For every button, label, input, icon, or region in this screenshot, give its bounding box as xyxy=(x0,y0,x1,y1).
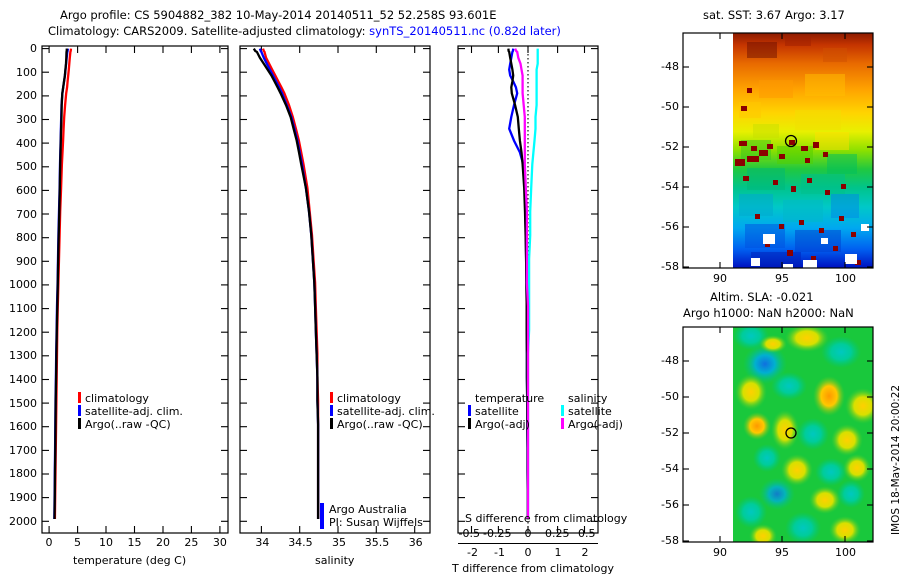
t-satellite-swatch xyxy=(468,405,471,416)
sla-map-svg xyxy=(655,322,900,557)
difference-legend-salinity-col: salinity satellite Argo(-adj) xyxy=(561,392,623,431)
s-argo-swatch xyxy=(561,418,564,429)
salinity-legend: climatology satellite-adj. clim. Argo(..… xyxy=(330,392,435,431)
legend-item: satellite-adj. clim. xyxy=(78,405,183,418)
legend-header-temperature: temperature xyxy=(475,392,544,405)
climatology-swatch xyxy=(78,392,81,403)
legend-item: climatology xyxy=(330,392,435,405)
sla-map-title-line1: Altim. SLA: -0.021 xyxy=(710,290,814,304)
legend-item: climatology xyxy=(78,392,183,405)
sst-map-panel xyxy=(655,28,900,283)
salinity-plot-svg xyxy=(235,40,450,545)
legend-item: Argo(-adj) xyxy=(468,418,544,431)
t-difference-axis-label: T difference from climatology xyxy=(452,562,614,575)
salinity-axis-label: salinity xyxy=(315,554,354,567)
legend-item: satellite xyxy=(468,405,544,418)
sst-map-ylabels: -48 -50 -52 -54 -56 -58 xyxy=(655,28,681,283)
legend-item: satellite-adj. clim. xyxy=(330,405,435,418)
salinity-profile-panel xyxy=(235,40,450,545)
page-title-line2: Climatology: CARS2009. Satellite-adjuste… xyxy=(48,24,561,38)
temperature-axis-label: temperature (deg C) xyxy=(73,554,186,567)
climatology-swatch xyxy=(330,392,333,403)
satellite-climatology-file: synTS_20140511.nc (0.82d later) xyxy=(369,24,561,38)
sst-map-svg xyxy=(655,28,900,283)
legend-item: Argo(..raw -QC) xyxy=(330,418,435,431)
legend-header-salinity: salinity xyxy=(568,392,623,405)
sst-map-title: sat. SST: 3.67 Argo: 3.17 xyxy=(703,8,845,22)
satellite-adj-swatch xyxy=(78,405,81,416)
difference-legend-temperature-col: temperature satellite Argo(-adj) xyxy=(468,392,544,431)
s-satellite-swatch xyxy=(561,405,564,416)
sst-raster xyxy=(683,33,873,270)
satellite-adj-swatch xyxy=(330,405,333,416)
page-title-line1: Argo profile: CS 5904882_382 10-May-2014… xyxy=(60,8,497,22)
sla-raster xyxy=(683,322,881,548)
credit-line2: PI: Susan Wijffels xyxy=(329,516,423,529)
credit-line1: Argo Australia xyxy=(329,503,423,516)
imos-timestamp: IMOS 18-May-2014 20:00:22 xyxy=(890,385,900,535)
legend-item: Argo(-adj) xyxy=(561,418,623,431)
difference-plot-svg xyxy=(450,40,650,545)
s-difference-axis-rule xyxy=(458,543,598,544)
sla-map-title-line2: Argo h1000: NaN h2000: NaN xyxy=(683,306,854,320)
difference-panel xyxy=(450,40,650,545)
sla-map-ylabels: -48 -50 -52 -54 -56 -58 xyxy=(655,322,681,557)
legend-item: Argo(..raw -QC) xyxy=(78,418,183,431)
argo-swatch xyxy=(330,418,333,429)
credit-block: Argo Australia PI: Susan Wijffels xyxy=(320,503,423,529)
sla-map-panel xyxy=(655,322,900,557)
depth-axis-labels: 0 100 200 300 400 500 600 700 800 900 10… xyxy=(0,40,40,540)
argo-swatch xyxy=(78,418,81,429)
s-difference-axis-label: S difference from climatology xyxy=(465,512,627,525)
climatology-source-label: Climatology: CARS2009. Satellite-adjuste… xyxy=(48,24,369,38)
temperature-legend: climatology satellite-adj. clim. Argo(..… xyxy=(78,392,183,431)
legend-item: satellite xyxy=(561,405,623,418)
t-argo-swatch xyxy=(468,418,471,429)
